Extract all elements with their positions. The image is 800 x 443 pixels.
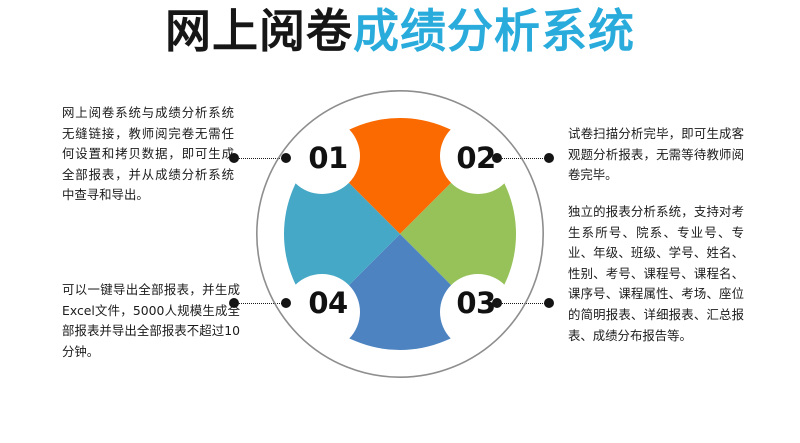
segment-number-04: 04 <box>298 288 358 318</box>
segment-number-03: 03 <box>446 288 506 318</box>
diagram-svg <box>250 84 550 384</box>
description-top-left: 网上阅卷系统与成绩分析系统无缝链接，教师阅完卷无需任何设置和拷贝数据，即可生成全… <box>62 103 234 206</box>
infographic-page: 网上阅卷成绩分析系统 网上阅卷系统与成绩分析系统无缝链接，教师阅完卷无需任何设置… <box>0 0 800 443</box>
page-title-black-part: 网上阅卷 <box>165 4 353 58</box>
description-bottom-left: 可以一键导出全部报表，并生成Excel文件，5000人规模生成全部报表并导出全部… <box>62 280 240 362</box>
description-bottom-right: 独立的报表分析系统，支持对考生系所号、院系、专业号、专业、年级、班级、学号、姓名… <box>568 202 744 346</box>
segment-number-02: 02 <box>446 143 506 173</box>
page-title: 网上阅卷成绩分析系统 <box>0 2 800 60</box>
circular-segment-diagram: 01 02 03 04 <box>250 84 550 384</box>
segment-number-01: 01 <box>298 143 358 173</box>
page-title-cyan-part: 成绩分析系统 <box>353 4 635 58</box>
description-top-right: 试卷扫描分析完毕，即可生成客观题分析报表，无需等待教师阅卷完毕。 <box>568 124 744 186</box>
